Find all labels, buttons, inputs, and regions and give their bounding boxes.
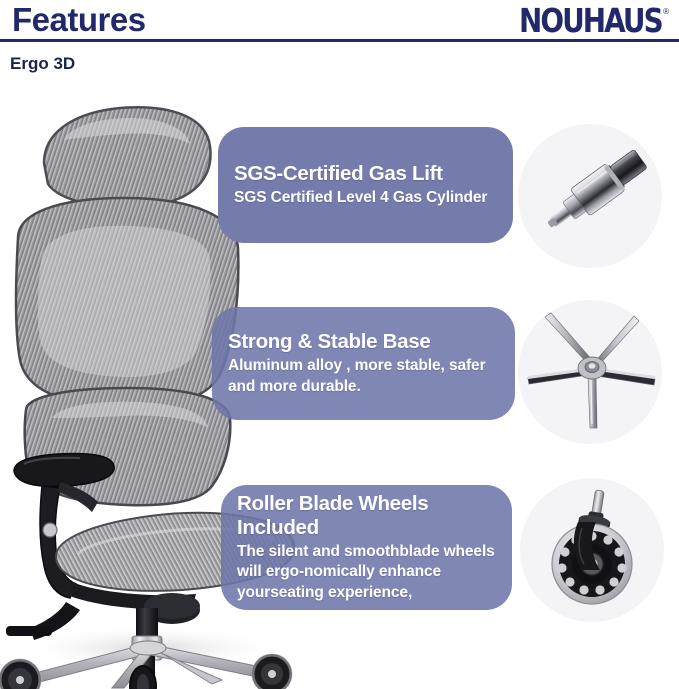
brand-logo-text: NOUHAUS bbox=[519, 2, 662, 40]
feature-description: Aluminum alloy , more stable, safer and … bbox=[228, 356, 499, 397]
feature-description: The silent and smoothblade wheels will e… bbox=[237, 542, 496, 603]
feature-description: SGS Certified Level 4 Gas Cylinder bbox=[234, 188, 497, 208]
product-model-subtitle: Ergo 3D bbox=[10, 54, 75, 74]
chair-backrest bbox=[16, 198, 238, 406]
brand-logo: NOUHAUS ® bbox=[513, 6, 669, 40]
page-title: Features bbox=[12, 1, 146, 39]
feature-callout-wheels: Roller Blade Wheels Included The silent … bbox=[221, 485, 512, 610]
header-divider bbox=[0, 39, 679, 42]
gas-cylinder-icon bbox=[518, 124, 662, 268]
product-circle-gas-lift bbox=[518, 124, 662, 268]
page-header: Features NOUHAUS ® Ergo 3D bbox=[0, 0, 679, 85]
product-circle-base bbox=[518, 300, 662, 444]
feature-title: SGS-Certified Gas Lift bbox=[234, 162, 497, 186]
feature-callout-gas-lift: SGS-Certified Gas Lift SGS Certified Lev… bbox=[218, 127, 513, 243]
feature-title: Roller Blade Wheels Included bbox=[237, 492, 496, 540]
caster-wheel-icon bbox=[520, 478, 664, 622]
feature-title: Strong & Stable Base bbox=[228, 330, 499, 354]
product-circle-wheel bbox=[520, 478, 664, 622]
feature-callout-base: Strong & Stable Base Aluminum alloy , mo… bbox=[212, 307, 515, 420]
five-star-base-icon bbox=[518, 300, 662, 444]
registered-trademark-icon: ® bbox=[663, 7, 669, 16]
